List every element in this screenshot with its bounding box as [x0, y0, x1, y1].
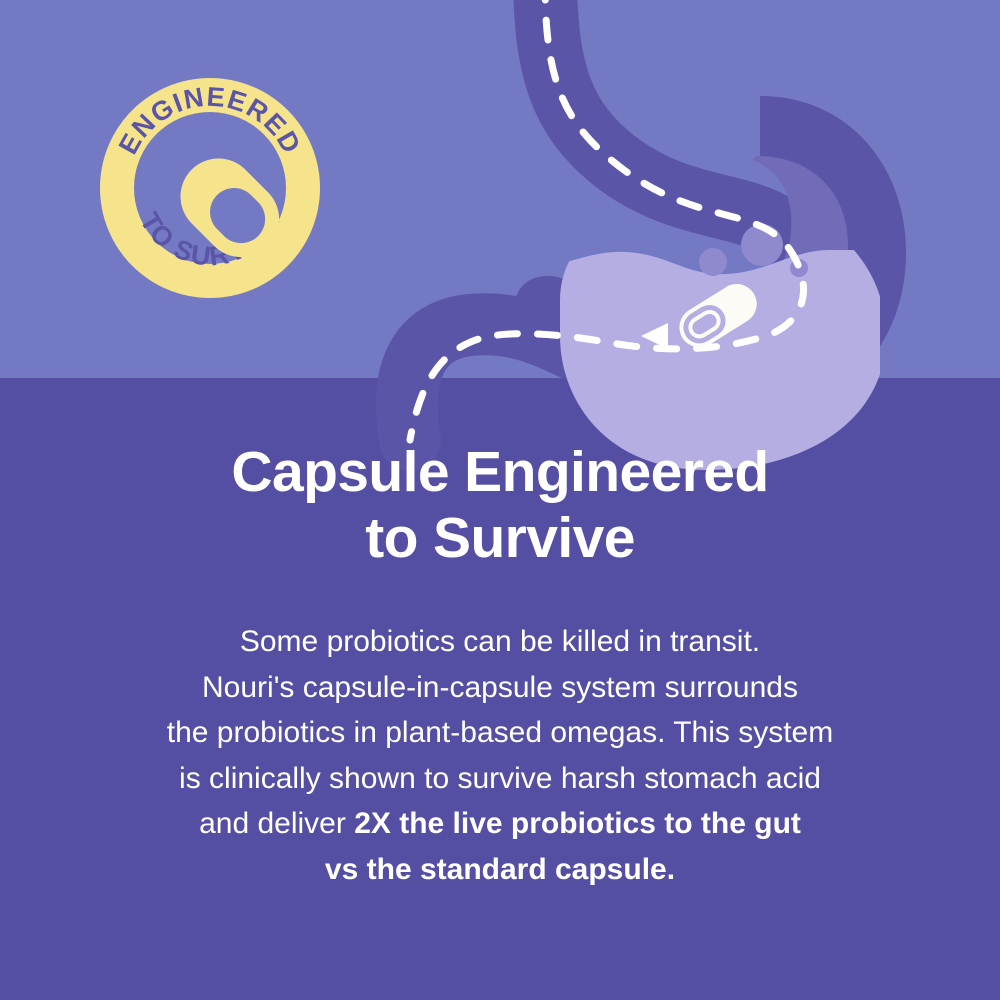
esophagus-tube: [545, 0, 790, 240]
body-line-5-prefix: and deliver: [199, 807, 354, 840]
page-title: Capsule Engineered to Survive: [0, 440, 1000, 571]
body-line-6-emphasis: vs the standard capsule.: [325, 853, 675, 886]
headline-line-2: to Survive: [365, 506, 635, 570]
body-paragraph: Some probiotics can be killed in transit…: [0, 619, 1000, 893]
body-line-5: and deliver 2X the live probiotics to th…: [199, 807, 801, 840]
body-line-5-emphasis: 2X the live probiotics to the gut: [354, 807, 801, 840]
promo-graphic: ENGINEERED TO SURVIVE Capsule Engineered…: [0, 0, 1000, 1000]
body-line-4: is clinically shown to survive harsh sto…: [179, 762, 821, 795]
engineered-to-survive-seal: ENGINEERED TO SURVIVE: [100, 78, 320, 298]
body-line-3: the probiotics in plant-based omegas. Th…: [167, 716, 833, 749]
spacer: [0, 571, 1000, 619]
headline-line-1: Capsule Engineered: [231, 440, 768, 504]
body-line-1: Some probiotics can be killed in transit…: [240, 625, 760, 658]
body-line-2: Nouri's capsule-in-capsule system surrou…: [202, 671, 798, 704]
text-block: Capsule Engineered to Survive Some probi…: [0, 440, 1000, 893]
bubble-medium: [699, 248, 727, 276]
